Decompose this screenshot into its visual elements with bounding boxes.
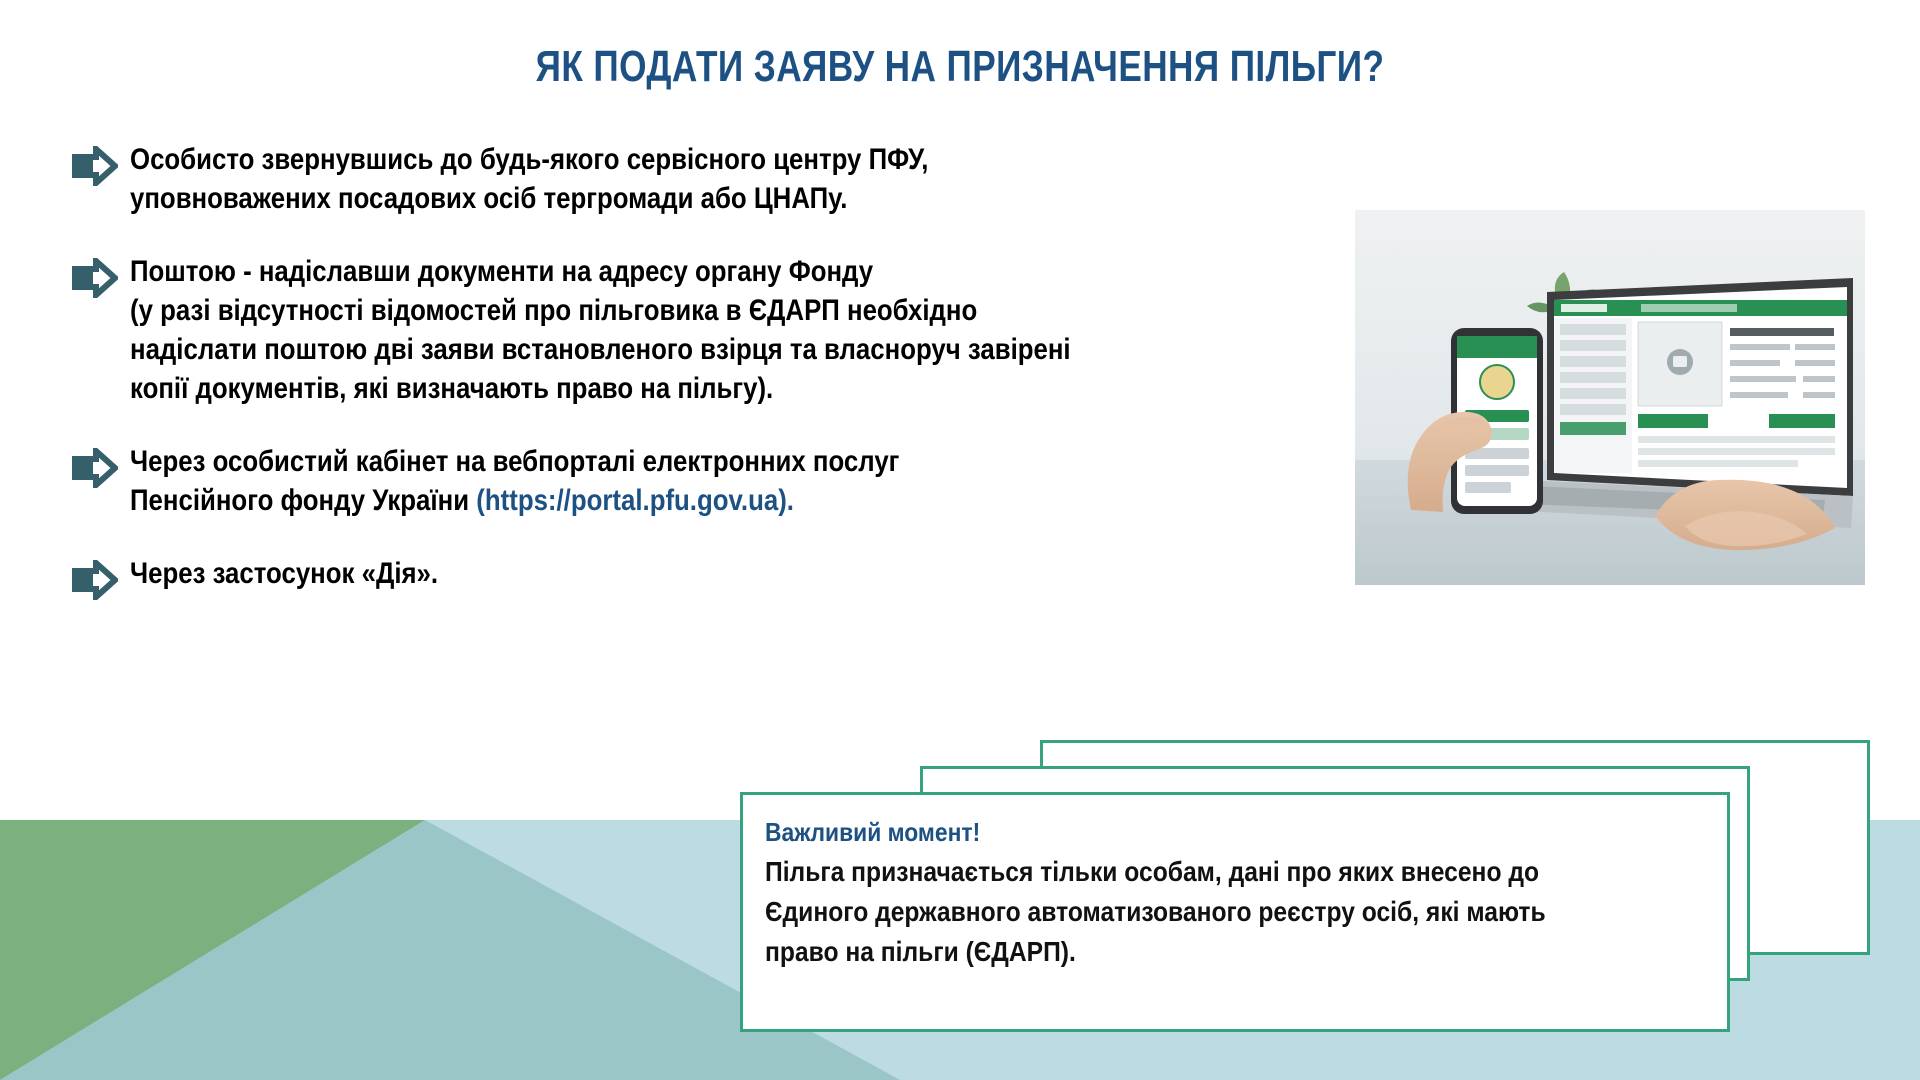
bullet-item: Через застосунок «Дія». <box>72 554 1262 600</box>
bullet-line: Поштою - надіславши документи на адресу … <box>130 252 1071 291</box>
arrow-right-icon <box>72 442 130 488</box>
bullet-item: Особисто звернувшись до будь-якого серві… <box>72 140 1262 218</box>
note-line: Пільга призначається тільки особам, дані… <box>765 852 1601 892</box>
bullet-line: надіслати поштою дві заяви встановленого… <box>130 330 1071 369</box>
bullet-line: (у разі відсутності відомостей про пільг… <box>130 291 1071 330</box>
bullet-text: Поштою - надіславши документи на адресу … <box>130 252 1071 408</box>
note-card-front: Важливий момент! Пільга призначається ті… <box>740 792 1730 1032</box>
bullet-text: Особисто звернувшись до будь-якого серві… <box>130 140 928 218</box>
note-line: Єдиного державного автоматизованого реєс… <box>765 892 1601 932</box>
bullet-text: Через особистий кабінет на вебпорталі ел… <box>130 442 899 520</box>
bullet-line-with-link: Пенсійного фонду України (https://portal… <box>130 481 899 520</box>
note-heading: Важливий момент! <box>765 817 1601 848</box>
bullet-line: уповноважених посадових осіб тергромади … <box>130 179 928 218</box>
bullet-line: Через особистий кабінет на вебпорталі ел… <box>130 442 899 481</box>
arrow-right-icon <box>72 140 130 186</box>
bullet-line: копії документів, які визначають право н… <box>130 369 1071 408</box>
note-body: Важливий момент! Пільга призначається ті… <box>765 817 1715 971</box>
note-card-stack: Важливий момент! Пільга призначається ті… <box>740 740 1870 1040</box>
bullet-list: Особисто звернувшись до будь-якого серві… <box>72 140 1262 634</box>
bullet-item: Через особистий кабінет на вебпорталі ел… <box>72 442 1262 520</box>
note-line: право на пільги (ЄДАРП). <box>765 932 1601 972</box>
arrow-right-icon <box>72 554 130 600</box>
arrow-right-icon <box>72 252 130 298</box>
bullet-line-prefix: Пенсійного фонду України <box>130 484 476 517</box>
portal-pfu-link[interactable]: (https://portal.pfu.gov.ua). <box>476 484 794 517</box>
bullet-line: Через застосунок «Дія». <box>130 554 438 593</box>
bullet-line: Особисто звернувшись до будь-якого серві… <box>130 140 928 179</box>
bullet-text: Через застосунок «Дія». <box>130 554 438 593</box>
photo-laptop-phone-pfu-portal <box>1355 210 1865 585</box>
page-title: ЯК ПОДАТИ ЗАЯВУ НА ПРИЗНАЧЕННЯ ПІЛЬГИ? <box>192 42 1728 92</box>
bullet-item: Поштою - надіславши документи на адресу … <box>72 252 1262 408</box>
